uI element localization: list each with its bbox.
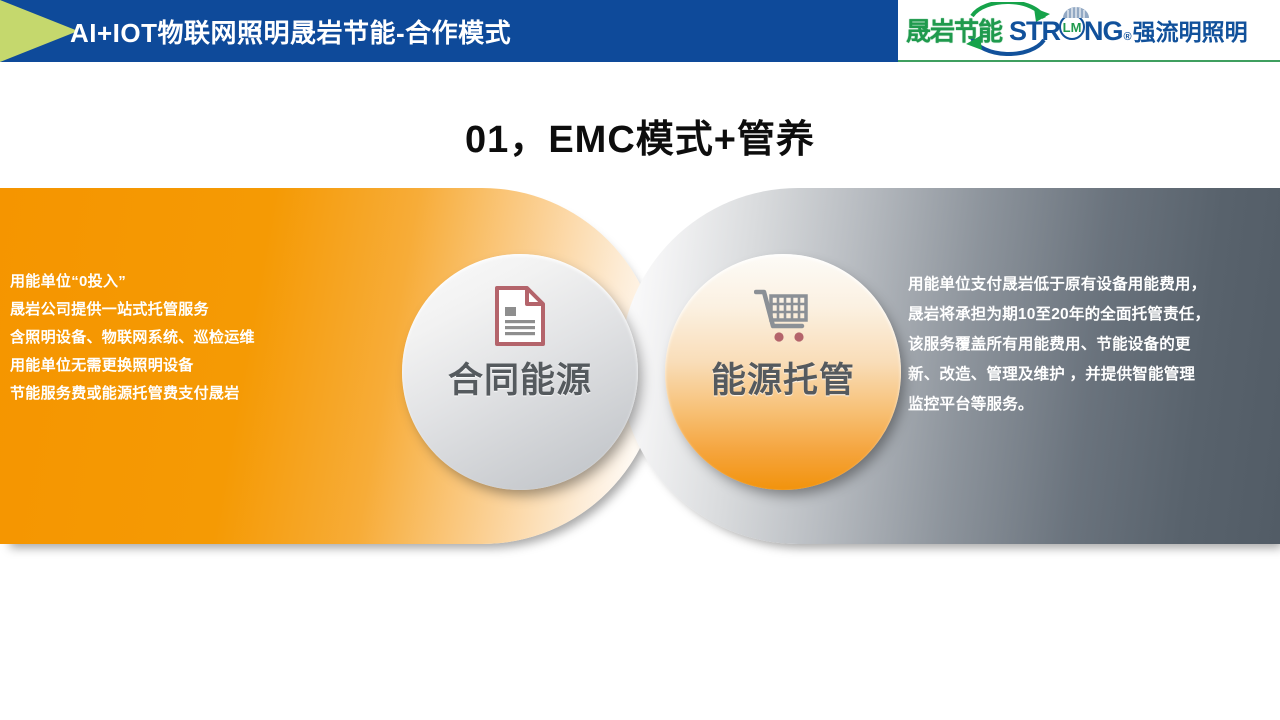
left-text-line: 晟岩公司提供一站式托管服务	[10, 296, 340, 324]
left-text-line: 用能单位无需更换照明设备	[10, 352, 340, 380]
triangle-right-icon	[0, 0, 78, 62]
right-text-line: 晟岩将承担为期10至20年的全面托管责任，	[908, 300, 1274, 330]
lamp-dome-icon	[1061, 5, 1091, 18]
brand-strong-part1: STR	[1009, 16, 1060, 47]
right-panel-text-block: 用能单位支付晟岩低于原有设备用能费用， 晟岩将承担为期10至20年的全面托管责任…	[908, 270, 1274, 420]
slide-root: AI+IOT物联网照明晟岩节能-合作模式 晟岩节能 STR LM NG® 强流明…	[0, 0, 1280, 720]
circle-energy-hosting[interactable]: 能源托管	[665, 254, 901, 490]
right-text-line: 新、改造、管理及维护 ，并提供智能管理	[908, 360, 1274, 390]
right-text-line: 监控平台等服务。	[908, 390, 1274, 420]
logo-company-name-cn: 晟岩节能	[906, 12, 1002, 48]
registered-trademark-icon: ®	[1124, 31, 1132, 43]
left-panel-text-block: 用能单位“0投入” 晟岩公司提供一站式托管服务 含照明设备、物联网系统、巡检运维…	[10, 268, 340, 408]
brand-logo-panel: 晟岩节能 STR LM NG® 强流明照明	[898, 0, 1280, 62]
right-text-line: 该服务覆盖所有用能费用、节能设备的更	[908, 330, 1274, 360]
shopping-cart-icon	[754, 284, 812, 348]
document-contract-icon	[494, 284, 546, 348]
circle-contract-energy-label: 合同能源	[448, 352, 592, 403]
circle-contract-energy[interactable]: 合同能源	[402, 254, 638, 490]
brand-name-cn: 强流明照明	[1133, 13, 1248, 47]
circle-energy-hosting-label: 能源托管	[711, 352, 855, 403]
brand-strong-lockup: STR LM NG® 强流明照明	[1009, 13, 1248, 47]
header-title: AI+IOT物联网照明晟岩节能-合作模式	[70, 0, 511, 62]
left-text-line: 含照明设备、物联网系统、巡检运维	[10, 324, 340, 352]
left-text-line: 节能服务费或能源托管费支付晟岩	[10, 380, 340, 408]
brand-strong-part2: NG	[1084, 16, 1123, 47]
left-text-line: 用能单位“0投入”	[10, 268, 340, 296]
page-title: 01，EMC模式+管养	[0, 108, 1280, 163]
brand-o-lamp-icon: LM	[1059, 14, 1085, 40]
brand-o-lm-text: LM	[1061, 20, 1083, 35]
right-text-line: 用能单位支付晟岩低于原有设备用能费用，	[908, 270, 1274, 300]
